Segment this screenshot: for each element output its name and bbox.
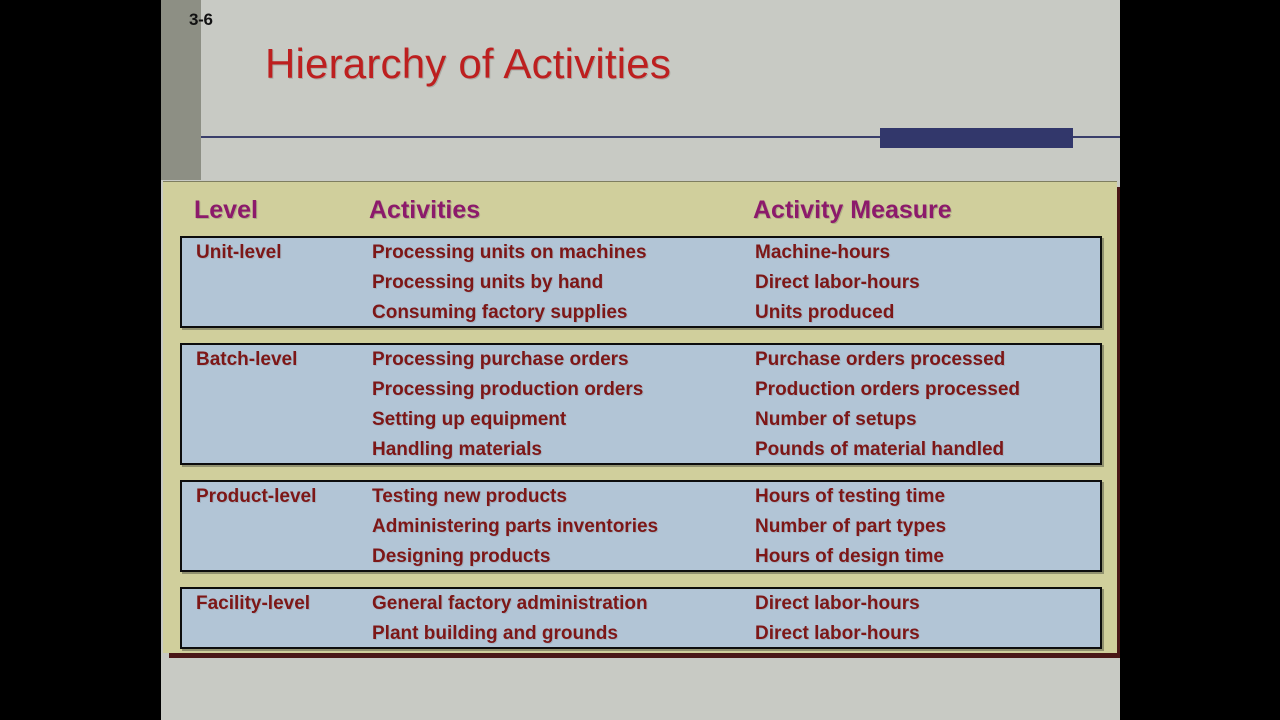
slide-canvas: 3-6 Hierarchy of Activities Level Activi… — [161, 0, 1120, 720]
column-header-activity-measure: Activity Measure — [753, 196, 952, 225]
cell-line: Designing products — [372, 542, 658, 572]
cell-level: Product-level — [196, 482, 316, 512]
cell-line: Processing units by hand — [372, 268, 647, 298]
cell-line: Direct labor-hours — [755, 589, 920, 619]
cell-activity-measure: Direct labor-hoursDirect labor-hours — [755, 589, 920, 649]
cell-level: Batch-level — [196, 345, 297, 375]
cell-line: Administering parts inventories — [372, 512, 658, 542]
cell-line: Pounds of material handled — [755, 435, 1020, 465]
cell-activities: Processing units on machinesProcessing u… — [372, 238, 647, 328]
table-row: Unit-level Processing units on machinesP… — [180, 236, 1102, 328]
cell-activities: Testing new productsAdministering parts … — [372, 482, 658, 572]
panel-drop-shadow-bottom — [169, 653, 1120, 658]
cell-line: Testing new products — [372, 482, 658, 512]
cell-line: Machine-hours — [755, 238, 920, 268]
slide-number: 3-6 — [189, 10, 213, 30]
header-accent-bar — [880, 128, 1073, 148]
cell-activities: General factory administrationPlant buil… — [372, 589, 648, 649]
cell-line: Direct labor-hours — [755, 268, 920, 298]
cell-line: Number of part types — [755, 512, 946, 542]
table-header-row: Level Activities Activity Measure — [163, 196, 1117, 234]
column-header-level: Level — [194, 196, 258, 225]
cell-line: Production orders processed — [755, 375, 1020, 405]
cell-line: Setting up equipment — [372, 405, 643, 435]
table-row: Product-level Testing new productsAdmini… — [180, 480, 1102, 572]
cell-line: Number of setups — [755, 405, 1020, 435]
cell-line: General factory administration — [372, 589, 648, 619]
cell-line: Hours of testing time — [755, 482, 946, 512]
page-title: Hierarchy of Activities — [265, 40, 671, 88]
cell-line: Hours of design time — [755, 542, 946, 572]
cell-line: Handling materials — [372, 435, 643, 465]
cell-line: Plant building and grounds — [372, 619, 648, 649]
slide-header: 3-6 Hierarchy of Activities — [161, 0, 1120, 180]
cell-line: Consuming factory supplies — [372, 298, 647, 328]
panel-drop-shadow-right — [1117, 187, 1120, 658]
presentation-stage: 3-6 Hierarchy of Activities Level Activi… — [0, 0, 1280, 720]
cell-line: Processing production orders — [372, 375, 643, 405]
table-row: Batch-level Processing purchase ordersPr… — [180, 343, 1102, 465]
table-row: Facility-level General factory administr… — [180, 587, 1102, 649]
column-header-activities: Activities — [369, 196, 480, 225]
cell-line: Units produced — [755, 298, 920, 328]
cell-activities: Processing purchase ordersProcessing pro… — [372, 345, 643, 465]
cell-line: Purchase orders processed — [755, 345, 1020, 375]
cell-level: Unit-level — [196, 238, 282, 268]
cell-activity-measure: Purchase orders processedProduction orde… — [755, 345, 1020, 465]
cell-activity-measure: Hours of testing timeNumber of part type… — [755, 482, 946, 572]
cell-level: Facility-level — [196, 589, 310, 619]
cell-activity-measure: Machine-hoursDirect labor-hoursUnits pro… — [755, 238, 920, 328]
cell-line: Processing purchase orders — [372, 345, 643, 375]
cell-line: Processing units on machines — [372, 238, 647, 268]
activity-hierarchy-panel: Level Activities Activity Measure Unit-l… — [163, 181, 1117, 653]
cell-line: Direct labor-hours — [755, 619, 920, 649]
